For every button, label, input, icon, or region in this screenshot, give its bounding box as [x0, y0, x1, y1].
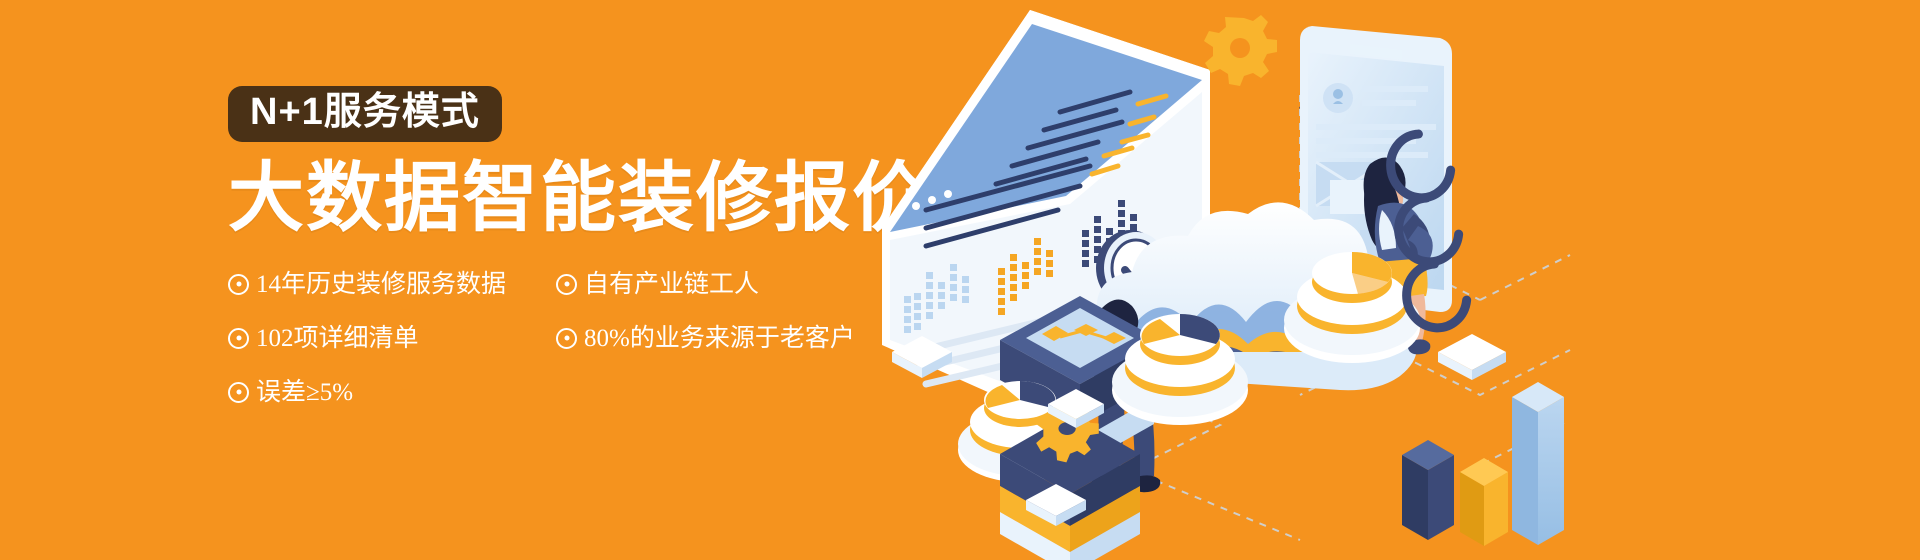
list-item-label: 80%的业务来源于老客户	[584, 326, 855, 351]
list-item-label: 误差≥5%	[256, 380, 353, 405]
promo-banner: N+1服务模式 大数据智能装修报价 14年历史装修服务数据 102项详细清单 误…	[0, 0, 1920, 560]
bullet-dot-icon	[556, 328, 577, 349]
list-item-label: 自有产业链工人	[584, 272, 759, 297]
list-item-label: 102项详细清单	[256, 326, 419, 351]
bullet-dot-icon	[228, 328, 249, 349]
feature-column-left: 14年历史装修服务数据 102项详细清单 误差≥5%	[228, 272, 528, 434]
isometric-bar-chart	[1402, 382, 1564, 546]
bullet-dot-icon	[228, 274, 249, 295]
hero-illustration	[830, 0, 1920, 560]
bullet-dot-icon	[228, 382, 249, 403]
bullet-dot-icon	[556, 274, 577, 295]
list-item-label: 14年历史装修服务数据	[256, 272, 506, 297]
list-item: 14年历史装修服务数据	[228, 272, 528, 297]
service-model-badge: N+1服务模式	[228, 86, 502, 142]
list-item: 误差≥5%	[228, 380, 528, 405]
list-item: 102项详细清单	[228, 326, 528, 351]
gear-icon-yellow	[1204, 15, 1277, 86]
